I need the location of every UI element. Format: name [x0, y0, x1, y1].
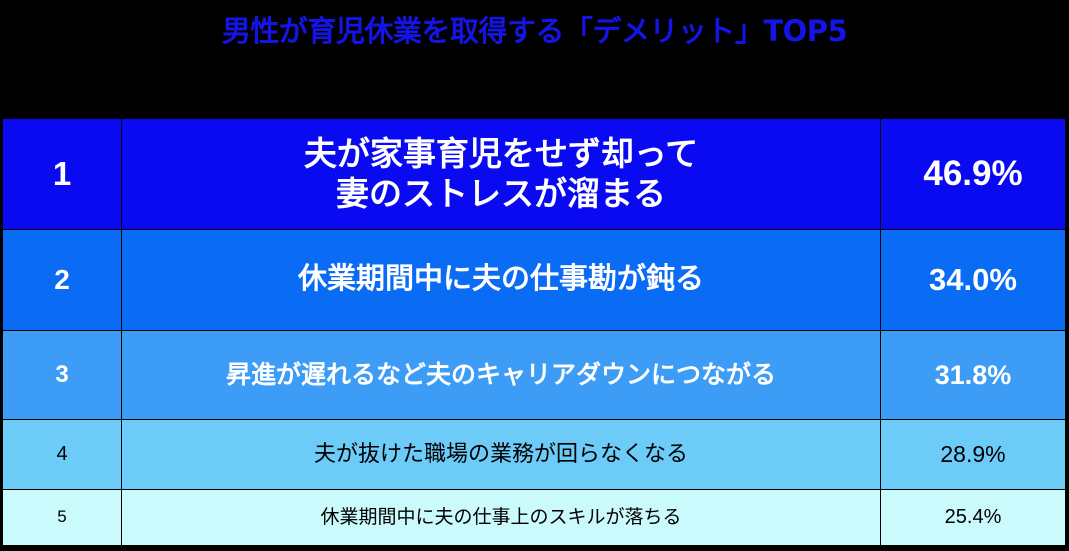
- label-line-1: 休業期間中に夫の仕事勘が鈍る: [122, 262, 880, 297]
- label-line-1: 休業期間中に夫の仕事上のスキルが落ちる: [122, 506, 880, 529]
- rank-cell: 4: [3, 420, 122, 490]
- percentage-value: 31.8%: [881, 359, 1065, 392]
- rank-cell: 2: [3, 230, 122, 331]
- rank-cell: 1: [3, 119, 122, 230]
- label-cell: 夫が家事育児をせず却って 妻のストレスが溜まる: [122, 119, 881, 230]
- table-row: 1 夫が家事育児をせず却って 妻のストレスが溜まる 46.9%: [3, 119, 1066, 230]
- rank-cell: 3: [3, 331, 122, 420]
- rank-number: 5: [3, 507, 121, 528]
- value-cell: 31.8%: [881, 331, 1066, 420]
- rank-cell: 5: [3, 490, 122, 546]
- title-bar: 男性が育児休業を取得する「デメリット」TOP5: [0, 0, 1069, 104]
- percentage-value: 34.0%: [881, 261, 1065, 299]
- rank-number: 2: [3, 263, 121, 297]
- label-cell: 休業期間中に夫の仕事勘が鈍る: [122, 230, 881, 331]
- label-line-2: 妻のストレスが溜まる: [122, 174, 880, 214]
- label-line-1: 昇進が遅れるなど夫のキャリアダウンにつながる: [122, 360, 880, 391]
- percentage-value: 46.9%: [881, 153, 1065, 196]
- table-row: 3 昇進が遅れるなど夫のキャリアダウンにつながる 31.8%: [3, 331, 1066, 420]
- value-cell: 46.9%: [881, 119, 1066, 230]
- rank-number: 3: [3, 360, 121, 389]
- value-cell: 28.9%: [881, 420, 1066, 490]
- table-row: 2 休業期間中に夫の仕事勘が鈍る 34.0%: [3, 230, 1066, 331]
- percentage-value: 28.9%: [881, 440, 1065, 468]
- rank-number: 4: [3, 442, 121, 466]
- page-title: 男性が育児休業を取得する「デメリット」TOP5: [0, 14, 1069, 48]
- table-row: 4 夫が抜けた職場の業務が回らなくなる 28.9%: [3, 420, 1066, 490]
- ranking-table: 1 夫が家事育児をせず却って 妻のストレスが溜まる 46.9% 2 休業期間中に…: [2, 118, 1066, 546]
- value-cell: 34.0%: [881, 230, 1066, 331]
- ranking-infographic: 男性が育児休業を取得する「デメリット」TOP5 1 夫が家事育児をせず却って 妻…: [0, 0, 1069, 551]
- label-cell: 夫が抜けた職場の業務が回らなくなる: [122, 420, 881, 490]
- label-line-1: 夫が家事育児をせず却って: [122, 134, 880, 174]
- label-cell: 昇進が遅れるなど夫のキャリアダウンにつながる: [122, 331, 881, 420]
- percentage-value: 25.4%: [881, 505, 1065, 529]
- value-cell: 25.4%: [881, 490, 1066, 546]
- rank-number: 1: [3, 154, 121, 194]
- label-cell: 休業期間中に夫の仕事上のスキルが落ちる: [122, 490, 881, 546]
- table-row: 5 休業期間中に夫の仕事上のスキルが落ちる 25.4%: [3, 490, 1066, 546]
- label-line-1: 夫が抜けた職場の業務が回らなくなる: [122, 441, 880, 468]
